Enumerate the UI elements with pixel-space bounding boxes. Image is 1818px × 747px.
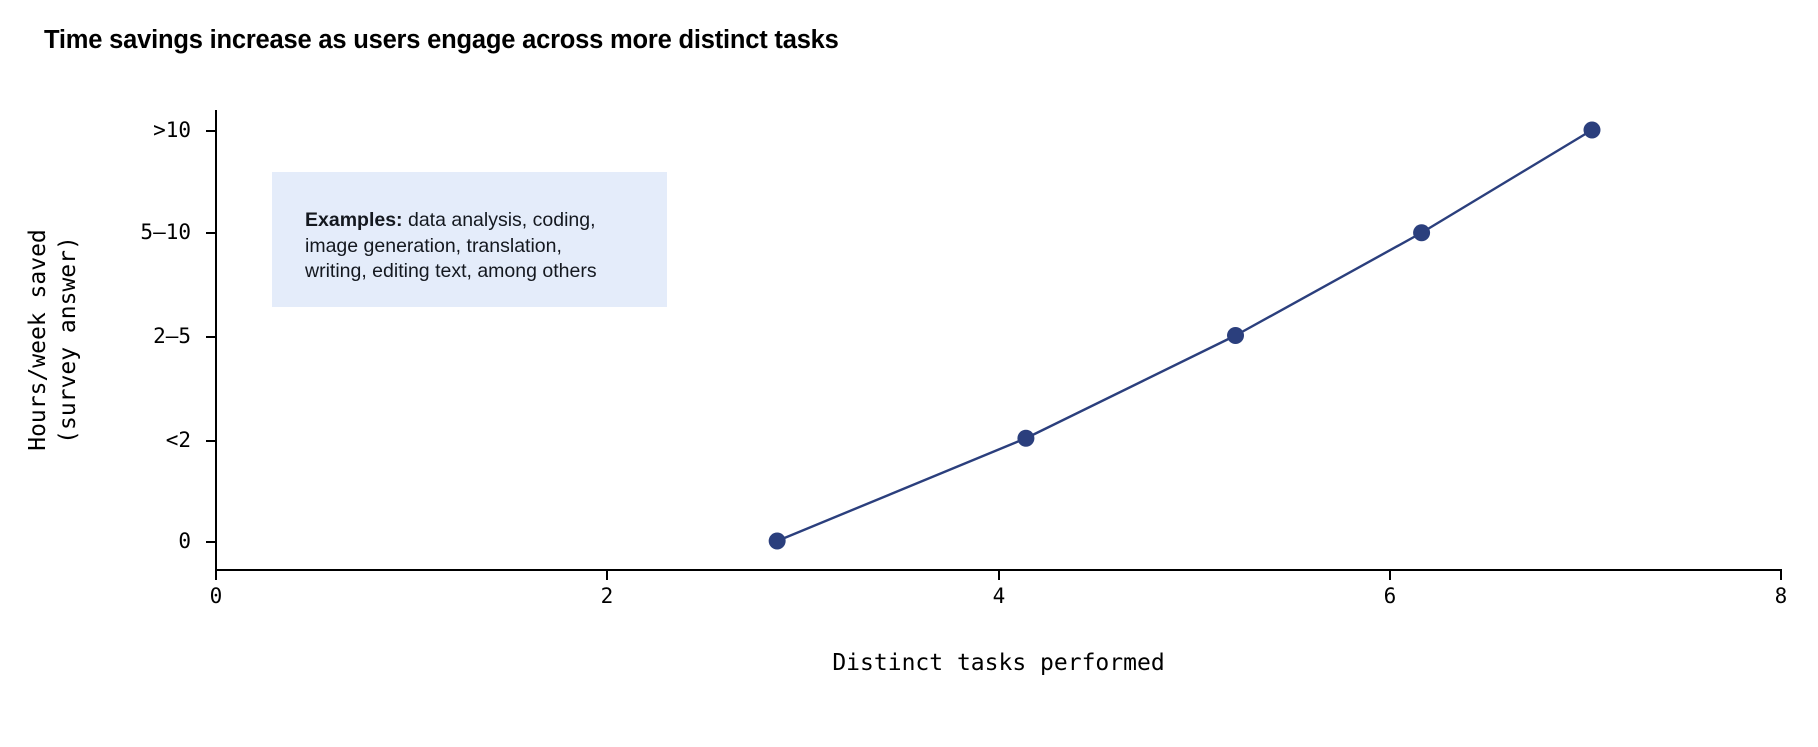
x-tick-mark-2 — [606, 571, 608, 580]
data-point-marker — [1584, 122, 1601, 139]
series-polyline — [777, 130, 1592, 541]
y-tick-mark-0 — [206, 541, 215, 543]
x-tick-label-0: 0 — [210, 584, 223, 608]
callout-line-3: writing, editing text, among others — [305, 259, 667, 285]
y-tick-label-2-5: 2–5 — [153, 324, 191, 348]
x-tick-mark-0 — [215, 571, 217, 580]
y-tick-label-5-10: 5–10 — [140, 220, 191, 244]
data-point-marker — [1227, 327, 1244, 344]
y-tick-label-gt10: >10 — [153, 118, 191, 142]
series-markers — [769, 122, 1601, 550]
data-point-marker — [1413, 224, 1430, 241]
x-tick-label-6: 6 — [1384, 584, 1397, 608]
y-tick-mark-lt2 — [206, 440, 215, 442]
x-tick-mark-8 — [1780, 571, 1782, 580]
plot-area: >10 5–10 2–5 <2 0 0 2 4 6 8 Examples: da… — [215, 110, 1782, 570]
y-tick-mark-5-10 — [206, 232, 215, 234]
x-tick-mark-6 — [1389, 571, 1391, 580]
data-point-marker — [1017, 430, 1034, 447]
x-tick-label-8: 8 — [1775, 584, 1788, 608]
examples-callout: Examples: data analysis, coding, image g… — [272, 172, 667, 307]
x-tick-label-4: 4 — [993, 584, 1006, 608]
y-tick-mark-gt10 — [206, 130, 215, 132]
y-tick-label-lt2: <2 — [166, 428, 191, 452]
data-point-marker — [769, 533, 786, 550]
y-tick-mark-2-5 — [206, 336, 215, 338]
x-tick-label-2: 2 — [601, 584, 614, 608]
chart-figure: Time savings increase as users engage ac… — [0, 0, 1818, 747]
chart-title: Time savings increase as users engage ac… — [44, 26, 839, 55]
callout-lead: Examples: — [305, 209, 403, 231]
examples-callout-text: Examples: data analysis, coding, image g… — [305, 208, 667, 285]
callout-line-1-rest: data analysis, coding, — [403, 209, 596, 231]
x-tick-mark-4 — [998, 571, 1000, 580]
y-axis-title: Hours/week saved(survey answer) — [23, 175, 83, 505]
y-axis-title-line-2: (survey answer) — [55, 236, 81, 444]
x-axis-title: Distinct tasks performed — [215, 650, 1782, 676]
y-axis-title-line-1: Hours/week saved — [25, 229, 51, 451]
callout-line-1: Examples: data analysis, coding, — [305, 208, 667, 234]
callout-line-2: image generation, translation, — [305, 234, 667, 260]
y-tick-label-0: 0 — [178, 529, 191, 553]
